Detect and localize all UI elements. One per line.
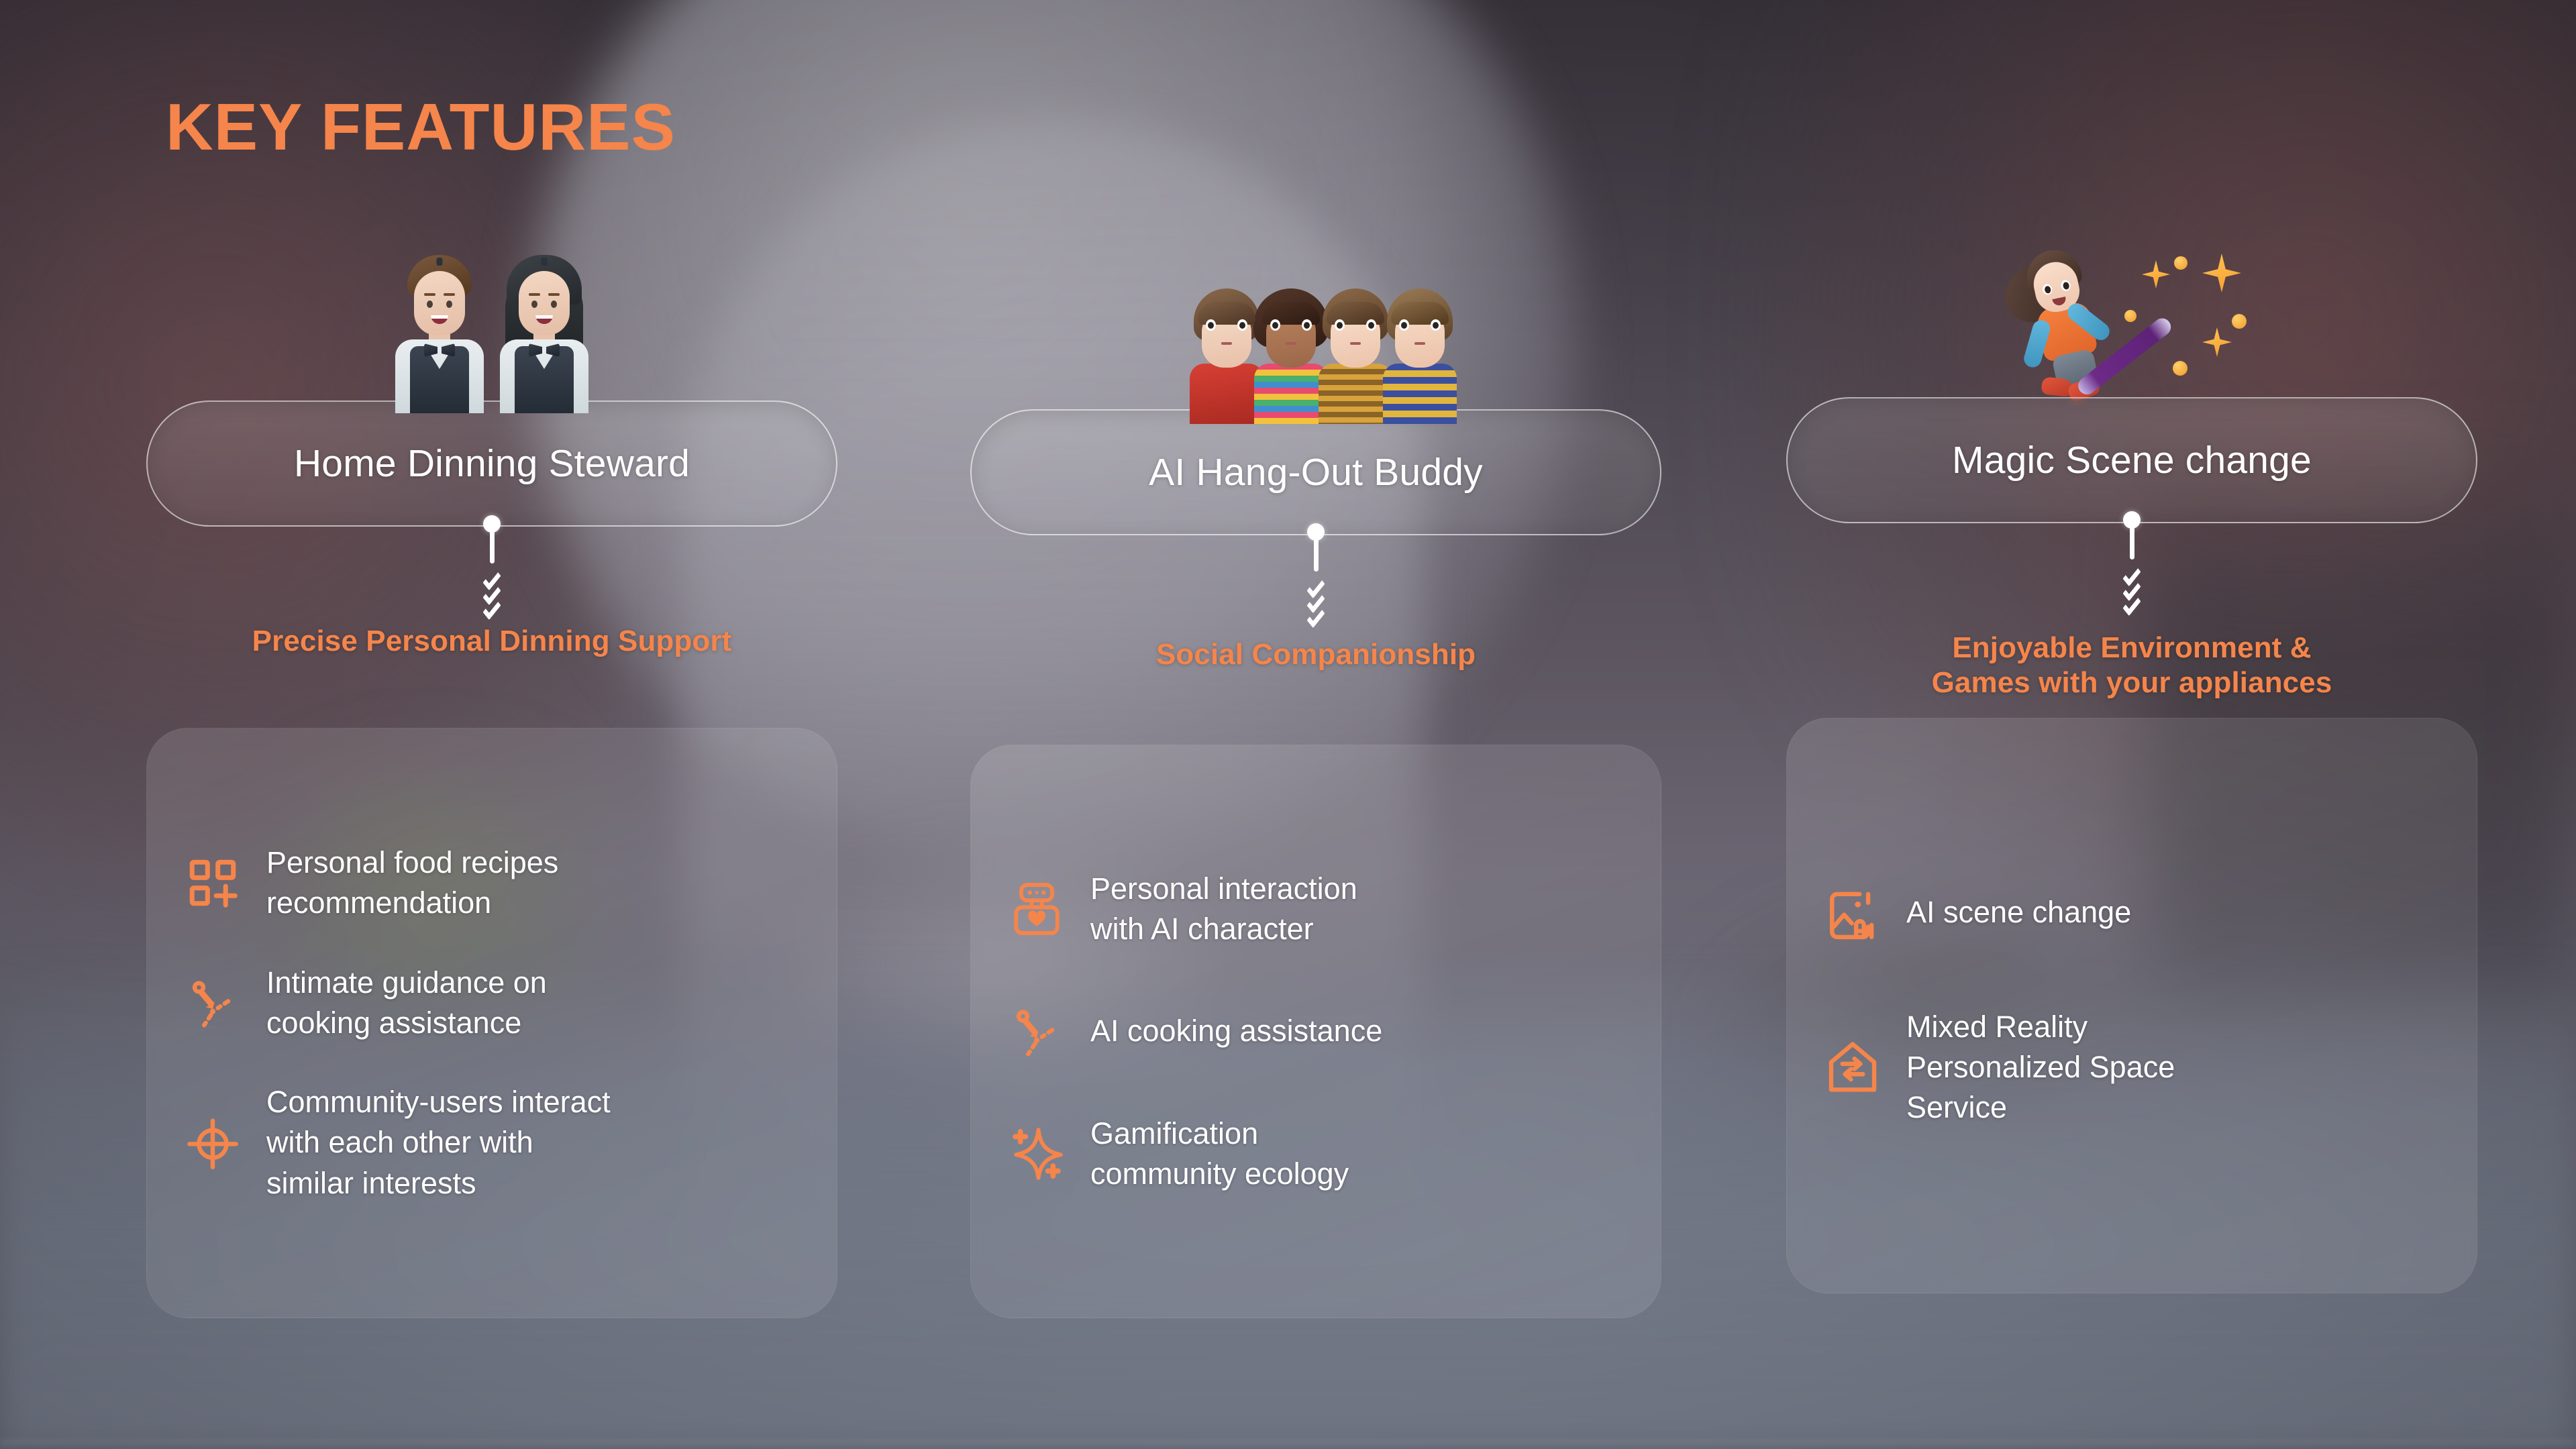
steward-female-figure <box>495 255 594 413</box>
feature-column-home-dinning-steward: Home Dinning Steward Precise Personal Di… <box>146 0 837 1449</box>
steward-male-figure <box>390 255 489 413</box>
feature-card-ai-hang-out-buddy: Personal interaction with AI character <box>970 745 1661 1318</box>
feature-subtitle: Social Companionship <box>970 637 1661 672</box>
list-item: Community-users interact with each other… <box>183 1082 801 1203</box>
sparkle-dot <box>2124 310 2136 322</box>
chevron-down-icon <box>482 574 501 614</box>
list-item: AI scene change <box>1823 883 2440 943</box>
feature-text: Mixed Reality Personalized Space Service <box>1906 1007 2175 1128</box>
list-item: Personal food recipes recommendation <box>183 843 801 924</box>
connector-arrow <box>2110 511 2153 610</box>
sparkle-dot <box>2174 256 2187 270</box>
sparkle-dot <box>2232 314 2247 329</box>
connector-stem <box>1314 538 1319 572</box>
feature-text: Community-users interact with each other… <box>266 1082 611 1203</box>
target-crosshair-icon <box>183 1114 242 1173</box>
feature-list: AI scene change Mixed Reality Personaliz… <box>1823 883 2440 1128</box>
connector-arrow <box>470 515 513 614</box>
connector-stem <box>490 530 495 563</box>
feature-subtitle: Precise Personal Dinning Support <box>146 624 837 659</box>
list-item: Gamification community ecology <box>1007 1114 1625 1195</box>
feature-card-magic-scene-change: AI scene change Mixed Reality Personaliz… <box>1786 718 2477 1293</box>
feature-column-magic-scene-change: Magic Scene change Enjoyable Environment… <box>1786 0 2477 1449</box>
hero-illustration-steward-couple <box>146 211 837 413</box>
chevron-down-icon <box>1306 582 1325 622</box>
ai-image-icon <box>1823 883 1882 943</box>
list-item: Intimate guidance on cooking assistance <box>183 963 801 1044</box>
magic-girl-figure <box>2004 239 2134 411</box>
kid-figure-blue-yellow-shirt <box>1380 288 1459 423</box>
feature-text: Gamification community ecology <box>1090 1114 1349 1195</box>
feature-pill-home-dinning-steward[interactable]: Home Dinning Steward <box>146 400 837 527</box>
pill-label: Home Dinning Steward <box>294 441 690 486</box>
kid-figure-rainbow-overalls <box>1251 288 1331 423</box>
feature-subtitle: Enjoyable Environment & Games with your … <box>1786 631 2477 700</box>
key-features-slide: KEY FEATURES <box>0 0 2576 1449</box>
kid-figure-denim-overalls <box>1316 288 1395 423</box>
feature-pill-ai-hang-out-buddy[interactable]: AI Hang-Out Buddy <box>970 409 1661 535</box>
guidance-path-icon <box>1007 1002 1066 1061</box>
connector-arrow <box>1294 523 1337 622</box>
list-item: AI cooking assistance <box>1007 1002 1625 1061</box>
pill-label: Magic Scene change <box>1952 438 2312 482</box>
grid-plus-icon <box>183 853 242 912</box>
feature-card-home-dinning-steward: Personal food recipes recommendation <box>146 728 837 1318</box>
kid-figure-red-shirt <box>1187 288 1266 423</box>
chevron-down-icon <box>2122 570 2141 610</box>
guidance-path-icon <box>183 973 242 1032</box>
connector-stem <box>2130 526 2134 559</box>
feature-list: Personal food recipes recommendation <box>183 843 801 1203</box>
hero-illustration-magic-girl <box>1786 201 2477 402</box>
sparkle-dot <box>2173 361 2187 376</box>
list-item: Personal interaction with AI character <box>1007 869 1625 950</box>
feature-text: AI cooking assistance <box>1090 1011 1382 1051</box>
sparkle-star <box>2142 260 2170 288</box>
sparkle-star <box>2202 254 2241 292</box>
house-exchange-icon <box>1823 1038 1882 1097</box>
hero-illustration-kids-group <box>970 221 1661 423</box>
sparkle-icon <box>1007 1124 1066 1183</box>
feature-text: Personal interaction with AI character <box>1090 869 1357 950</box>
feature-text: AI scene change <box>1906 892 2131 932</box>
feature-pill-magic-scene-change[interactable]: Magic Scene change <box>1786 397 2477 523</box>
feature-text: Personal food recipes recommendation <box>266 843 558 924</box>
pill-label: AI Hang-Out Buddy <box>1149 450 1483 494</box>
feature-column-ai-hang-out-buddy: AI Hang-Out Buddy Social Companionship <box>970 0 1661 1449</box>
magic-wand-icon <box>2075 315 2174 398</box>
feature-text: Intimate guidance on cooking assistance <box>266 963 547 1044</box>
list-item: Mixed Reality Personalized Space Service <box>1823 1007 2440 1128</box>
sparkle-star <box>2202 327 2232 357</box>
robot-heart-icon <box>1007 879 1066 938</box>
feature-list: Personal interaction with AI character <box>1007 869 1625 1194</box>
